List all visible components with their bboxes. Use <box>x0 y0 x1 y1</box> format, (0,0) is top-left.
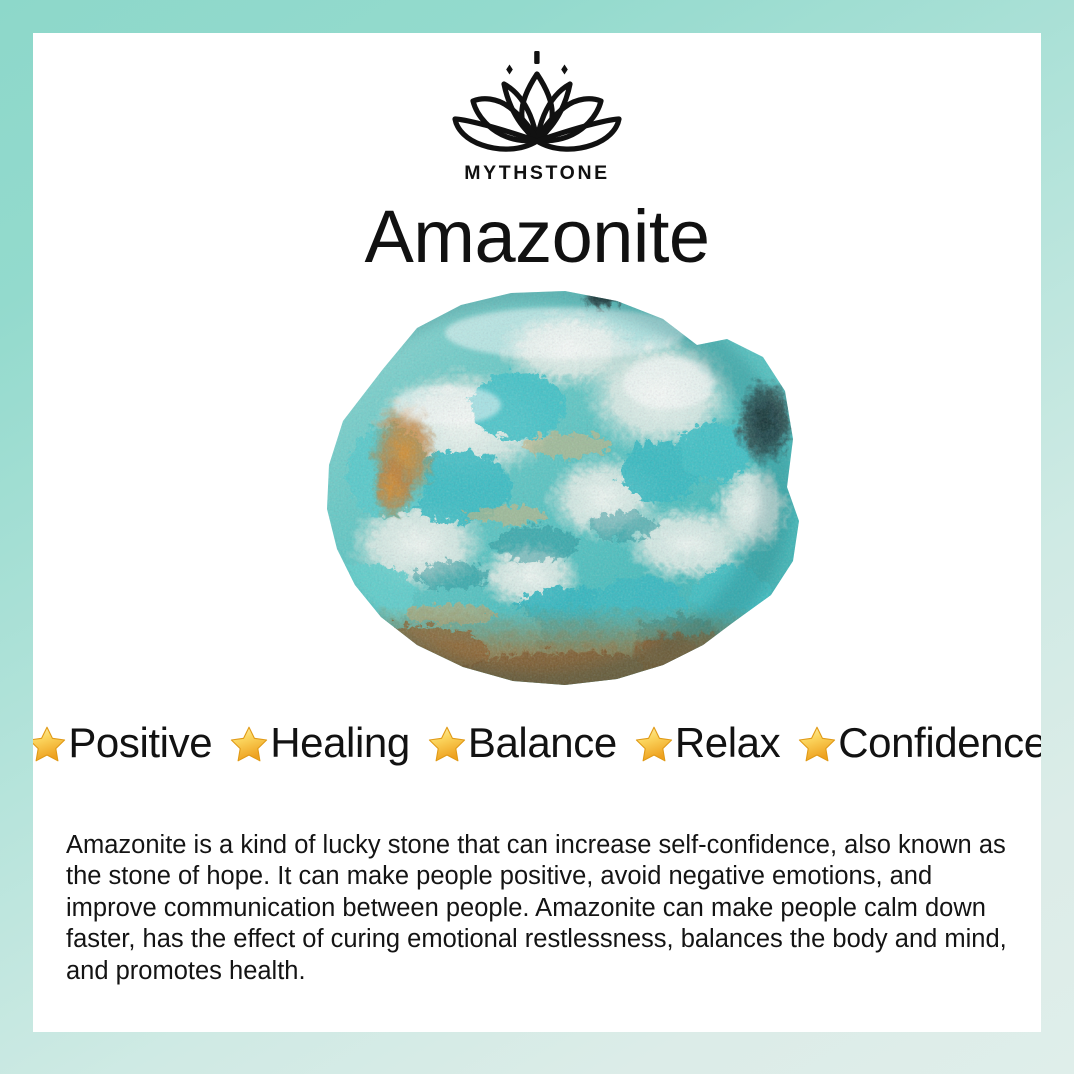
list-item: Balance <box>427 722 617 764</box>
star-icon <box>797 724 837 764</box>
brand-name: MYTHSTONE <box>464 164 609 184</box>
keyword-label: Positive <box>68 722 212 764</box>
benefit-keyword-list: Positive Healing Balance Relax <box>33 722 1041 764</box>
product-info-card: MYTHSTONE Amazonite <box>0 0 1074 1074</box>
star-icon <box>229 724 269 764</box>
list-item: Healing <box>229 722 410 764</box>
list-item: Relax <box>634 722 780 764</box>
brand-logo: MYTHSTONE <box>33 47 1041 184</box>
keyword-label: Balance <box>468 722 617 764</box>
list-item: Positive <box>33 722 212 764</box>
page-title: Amazonite <box>33 197 1041 277</box>
star-icon <box>427 724 467 764</box>
stone-description: Amazonite is a kind of lucky stone that … <box>66 830 1014 988</box>
keyword-label: Confidence <box>838 722 1041 764</box>
white-content-card: MYTHSTONE Amazonite <box>33 33 1041 1032</box>
lotus-icon <box>449 47 625 163</box>
keyword-label: Healing <box>270 722 410 764</box>
specimen-image <box>265 273 810 703</box>
star-icon <box>33 724 67 764</box>
star-icon <box>634 724 674 764</box>
keyword-label: Relax <box>675 722 780 764</box>
list-item: Confidence <box>797 722 1041 764</box>
